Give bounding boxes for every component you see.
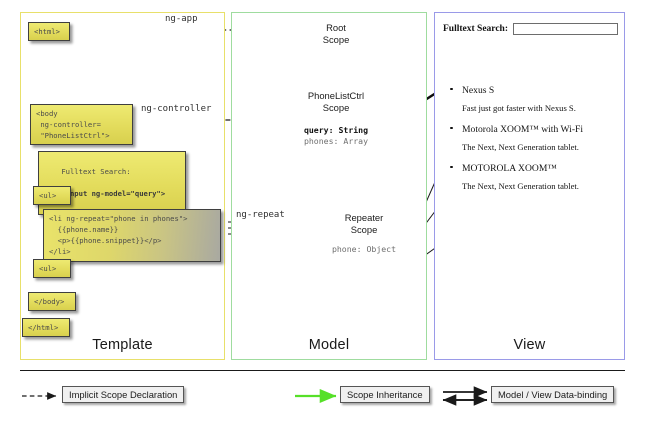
- column-label-template: Template: [21, 337, 224, 353]
- legend: Implicit Scope Declaration Scope Inherit…: [20, 378, 625, 412]
- list-item: Nexus S Fast just got faster with Nexus …: [450, 84, 620, 115]
- view-phone-list: Nexus S Fast just got faster with Nexus …: [450, 84, 620, 201]
- phone-name: Nexus S: [450, 84, 620, 97]
- column-model: Model: [231, 12, 427, 360]
- code-box-search-markup: Fulltext Search: <input ng-model="query"…: [38, 151, 186, 215]
- edge-label-ng-controller: ng-controller: [141, 104, 211, 114]
- code-box-ul-open: <ul>: [33, 186, 71, 205]
- legend-divider: [20, 370, 625, 371]
- search-markup-code: <input ng-model="query">: [61, 189, 165, 198]
- phone-snippet: The Next, Next Generation tablet.: [450, 141, 620, 154]
- phone-name: MOTOROLA XOOM™: [450, 162, 620, 175]
- legend-item-implicit-scope: Implicit Scope Declaration: [62, 386, 184, 403]
- view-search-label: Fulltext Search:: [443, 24, 508, 34]
- legend-label-implicit-scope: Implicit Scope Declaration: [62, 386, 184, 403]
- code-box-html-close: </html>: [22, 318, 70, 337]
- diagram-canvas: Template Model View <html> <body ng-cont…: [0, 0, 645, 425]
- code-box-ul-close: <ul>: [33, 259, 71, 278]
- legend-item-scope-inheritance: Scope Inheritance: [340, 386, 430, 403]
- phone-snippet: Fast just got faster with Nexus S.: [450, 102, 620, 115]
- code-box-html-open: <html>: [28, 22, 70, 41]
- view-pane: Fulltext Search: Nexus S Fast just got f…: [434, 12, 625, 360]
- list-bullet-icon: [450, 88, 453, 91]
- code-box-li-repeat: <li ng-repeat="phone in phones"> {{phone…: [43, 209, 221, 262]
- code-box-body-close: </body>: [28, 292, 76, 311]
- view-search-row: Fulltext Search:: [443, 23, 618, 35]
- legend-label-scope-inheritance: Scope Inheritance: [340, 386, 430, 403]
- phone-name: Motorola XOOM™ with Wi-Fi: [450, 123, 620, 136]
- list-item: Motorola XOOM™ with Wi-Fi The Next, Next…: [450, 123, 620, 154]
- edge-label-ng-repeat: ng-repeat: [236, 210, 285, 220]
- view-search-input[interactable]: [513, 23, 618, 35]
- edge-label-ng-app: ng-app: [165, 14, 198, 24]
- list-bullet-icon: [450, 166, 453, 169]
- phone-snippet: The Next, Next Generation tablet.: [450, 180, 620, 193]
- column-label-model: Model: [232, 337, 426, 353]
- list-bullet-icon: [450, 127, 453, 130]
- legend-label-data-binding: Model / View Data-binding: [491, 386, 614, 403]
- code-box-body-open: <body ng-controller= "PhoneListCtrl">: [30, 104, 133, 145]
- list-item: MOTOROLA XOOM™ The Next, Next Generation…: [450, 162, 620, 193]
- legend-item-data-binding: Model / View Data-binding: [491, 386, 614, 403]
- search-markup-label: Fulltext Search:: [61, 167, 130, 176]
